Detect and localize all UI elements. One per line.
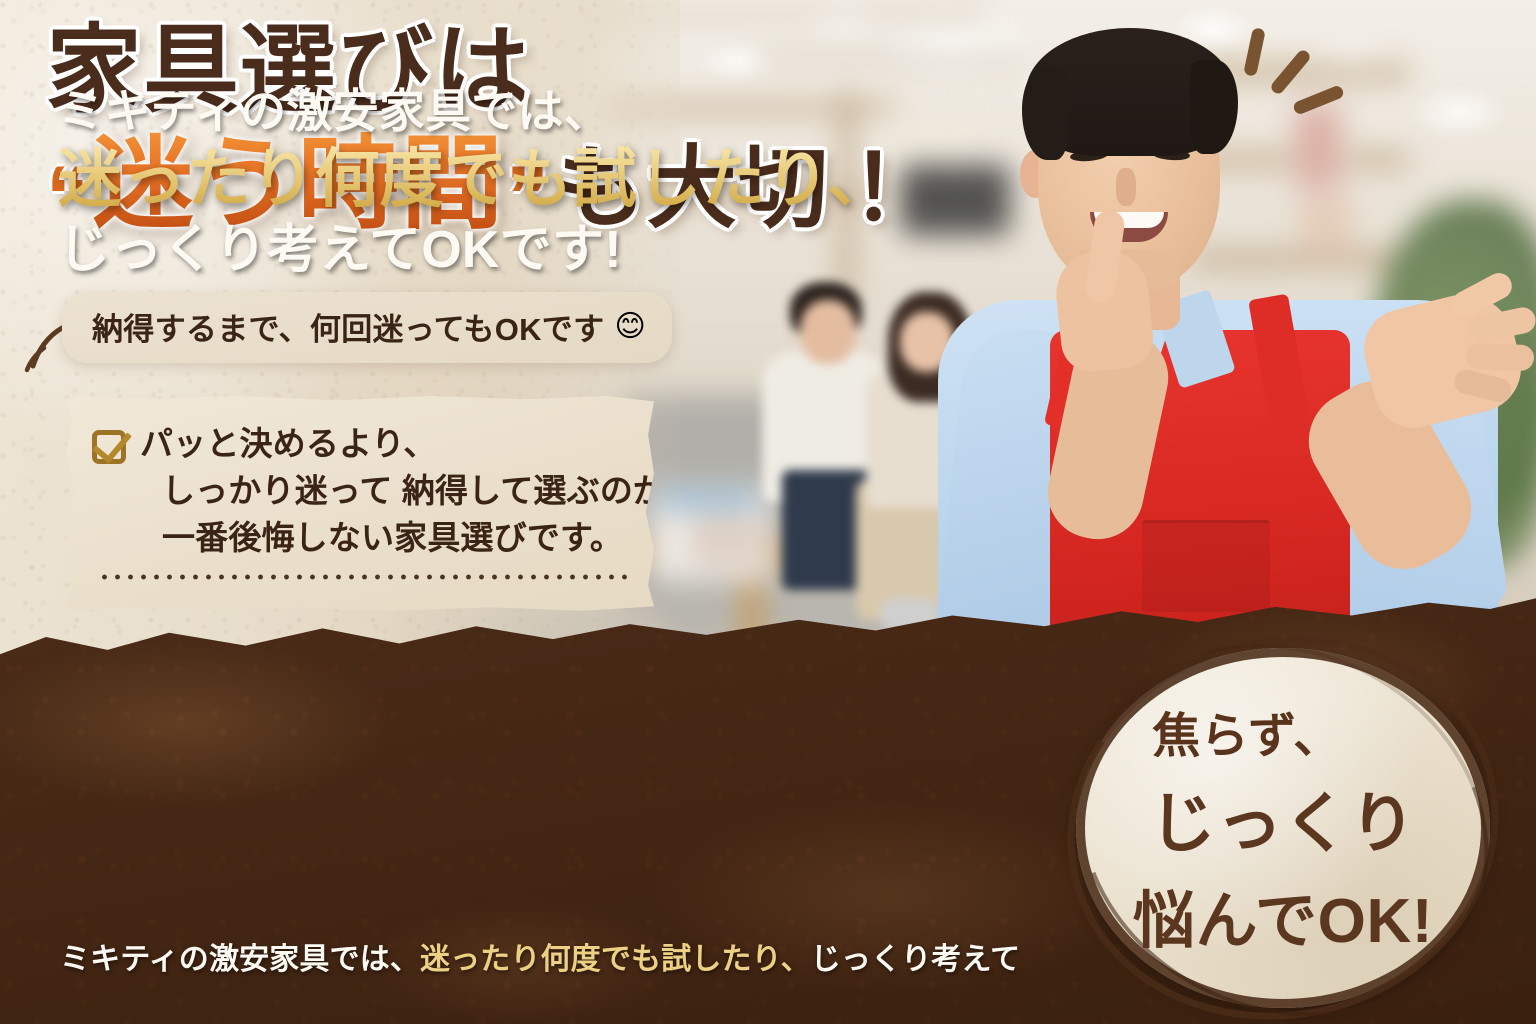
dotted-divider bbox=[98, 573, 628, 581]
subheadline-text: 納得するまで、何回迷ってもOKです bbox=[92, 304, 604, 349]
staff-member-photo bbox=[930, 0, 1536, 700]
round-stamp-badge: 焦らず、 じっくり 悩んでOK! bbox=[1076, 648, 1490, 1008]
checked-checkbox-icon bbox=[92, 430, 126, 464]
band-small-part-2: 迷ったり何度でも試したり、 bbox=[420, 943, 811, 976]
note-card-line-3: 一番後悔しない家具選びです。 bbox=[162, 518, 699, 559]
band-message: ミキティの激安家具では、 迷ったり何度でも試したり、 じっくり考えてOKです! bbox=[58, 86, 892, 279]
note-card-line-2: しっかり迷って 納得して選ぶのが、 bbox=[162, 471, 699, 512]
band-line-3: じっくり考えてOKです! bbox=[58, 221, 892, 279]
note-card: パッと決めるより、 しっかり迷って 納得して選ぶのが、 一番後悔しない家具選びで… bbox=[66, 396, 654, 611]
badge-line-2: じっくり bbox=[1150, 770, 1417, 866]
smiling-face-emoji-icon: 😊 bbox=[614, 312, 645, 342]
subheadline-pill: 納得するまで、何回迷ってもOKです 😊 bbox=[62, 292, 672, 363]
promo-banner: 家具選びは “ 迷う時間 ” も大切！ 納得するまで、何回迷ってもOKです 😊 … bbox=[0, 0, 1536, 1024]
note-card-line-1: パッと決めるより、 bbox=[140, 424, 699, 465]
band-small-part-3: じっくり考えて bbox=[811, 943, 1021, 976]
badge-line-1: 焦らず、 bbox=[1152, 696, 1342, 766]
band-line-2: 迷ったり何度でも試したり、 bbox=[58, 144, 892, 216]
badge-line-3: 悩んでOK! bbox=[1133, 870, 1433, 960]
emphasis-strokes-icon bbox=[1236, 24, 1366, 116]
band-line-1: ミキティの激安家具では、 bbox=[58, 86, 892, 138]
band-small-part-1: ミキティの激安家具では、 bbox=[60, 943, 420, 976]
band-small-note: ミキティの激安家具では、迷ったり何度でも試したり、じっくり考えて bbox=[60, 934, 1020, 978]
